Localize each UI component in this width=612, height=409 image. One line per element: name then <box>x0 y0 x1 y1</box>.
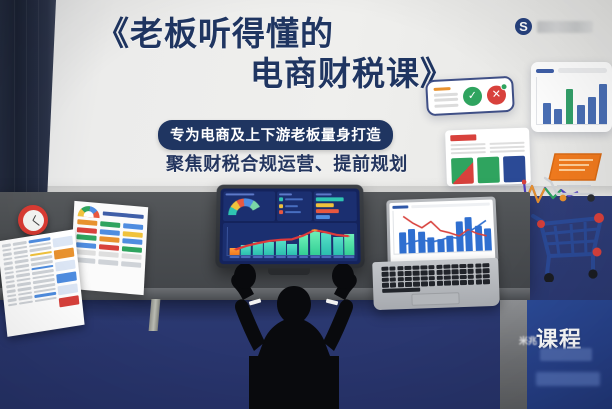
spacebar-key[interactable] <box>382 287 420 292</box>
key[interactable] <box>429 281 436 285</box>
close-glyph: ✕ <box>492 89 502 100</box>
key[interactable] <box>436 276 443 280</box>
headline-line-2: 电商财税课》 <box>96 54 456 94</box>
gauge-chart-icon <box>78 205 101 218</box>
key[interactable] <box>405 277 412 281</box>
report-color-grid <box>75 219 143 267</box>
key[interactable] <box>460 280 467 284</box>
key[interactable] <box>413 266 420 270</box>
key[interactable] <box>428 265 435 269</box>
invoice-validation-card[interactable]: ✓ ✕ <box>425 76 515 117</box>
laptop-chart-plot <box>392 207 491 254</box>
key[interactable] <box>421 282 428 286</box>
key[interactable] <box>397 266 404 270</box>
key[interactable] <box>437 281 444 285</box>
tile-green-red <box>451 158 474 185</box>
printed-report-1 <box>0 229 85 337</box>
card-text-lines <box>434 87 459 108</box>
notification-dot-icon <box>500 83 507 90</box>
table-cell <box>7 294 16 298</box>
table-cell <box>5 275 14 279</box>
key[interactable] <box>452 281 459 285</box>
key[interactable] <box>452 275 459 279</box>
x-tick <box>299 256 309 258</box>
key[interactable] <box>475 274 482 278</box>
key[interactable] <box>421 271 428 275</box>
widget-kpi <box>277 191 312 221</box>
right-partition <box>500 300 530 409</box>
key[interactable] <box>483 279 490 283</box>
key[interactable] <box>468 275 475 279</box>
x-tick <box>230 256 240 258</box>
key[interactable] <box>475 263 482 267</box>
x-tick <box>287 256 297 258</box>
subtitle: 聚焦财税合规运营、提前规划 <box>166 150 408 176</box>
printed-report-2 <box>70 201 148 295</box>
key[interactable] <box>436 265 443 269</box>
key[interactable] <box>452 264 459 268</box>
key[interactable] <box>444 264 451 268</box>
key[interactable] <box>420 265 427 269</box>
key[interactable] <box>405 282 412 286</box>
table-cell <box>3 257 12 261</box>
tablet-screen <box>219 189 360 265</box>
bottom-right-redacted-2 <box>536 372 600 386</box>
bar-chart-card[interactable] <box>531 62 612 132</box>
key[interactable] <box>398 282 405 286</box>
laptop-screen <box>389 200 495 263</box>
cart-illustrations <box>519 148 611 283</box>
key[interactable] <box>460 269 467 273</box>
key[interactable] <box>444 275 451 279</box>
clock-icon <box>18 205 48 235</box>
card-header <box>536 68 607 73</box>
trend-line <box>230 228 355 255</box>
key[interactable] <box>389 266 396 270</box>
key[interactable] <box>382 283 389 287</box>
key[interactable] <box>467 264 474 268</box>
businessman-silhouette <box>221 264 367 409</box>
key[interactable] <box>390 283 397 287</box>
shopping-cart-orange-icon <box>535 148 609 204</box>
keyboard[interactable] <box>381 263 490 293</box>
key[interactable] <box>436 270 443 274</box>
brand-name-redacted <box>537 21 593 33</box>
analytics-dashboard <box>219 189 360 265</box>
table-cell <box>4 262 13 266</box>
key[interactable] <box>428 270 435 274</box>
status-badge: 专为电商及上下游老板量身打造 <box>158 120 393 150</box>
key[interactable] <box>483 274 490 278</box>
key[interactable] <box>444 270 451 274</box>
dashboard-main-chart <box>222 223 357 261</box>
bar <box>599 84 607 124</box>
table-cell <box>6 280 15 284</box>
doc-text-rows <box>451 142 525 155</box>
tile-green <box>477 157 500 184</box>
tablet-device[interactable] <box>215 185 365 269</box>
widget-chips <box>314 191 357 221</box>
doc-chart-tiles <box>451 156 526 185</box>
brand-mark-icon: S <box>515 18 532 35</box>
key[interactable] <box>468 280 475 284</box>
key[interactable] <box>397 272 404 276</box>
doc-header-bar <box>450 134 476 141</box>
key[interactable] <box>381 267 388 271</box>
table-cell <box>2 248 11 252</box>
table-cell <box>8 303 17 307</box>
page-title: 《老板听得懂的 电商财税课》 <box>96 14 456 94</box>
key[interactable] <box>397 277 404 281</box>
stage-curtain <box>0 0 56 200</box>
key[interactable] <box>413 271 420 275</box>
key[interactable] <box>413 276 420 280</box>
bottom-right-redacted-1 <box>540 348 592 361</box>
clock-face <box>23 210 44 231</box>
x-tick <box>253 256 263 258</box>
table-cell <box>7 289 16 293</box>
bottom-right-prefix: 米兆 <box>519 334 537 347</box>
key[interactable] <box>460 275 467 279</box>
x-tick <box>333 256 343 258</box>
key[interactable] <box>475 269 482 273</box>
x-tick <box>322 256 332 258</box>
table-cell <box>2 243 11 247</box>
shopping-cart-blue-icon <box>527 208 611 282</box>
laptop-device[interactable] <box>373 198 499 316</box>
key[interactable] <box>413 282 420 286</box>
key[interactable] <box>429 276 436 280</box>
key[interactable] <box>476 280 483 284</box>
laptop-base <box>372 258 500 310</box>
table-cell <box>3 252 12 256</box>
x-tick <box>276 256 286 258</box>
key[interactable] <box>390 277 397 281</box>
key[interactable] <box>459 264 466 268</box>
x-tick <box>241 256 251 258</box>
x-tick <box>345 256 355 258</box>
laptop-lid <box>386 196 498 266</box>
donut-chart-icon <box>228 198 262 215</box>
table-cell <box>8 298 17 302</box>
dashboard-widget-row <box>223 191 357 221</box>
key[interactable] <box>483 269 490 273</box>
silhouette-shape <box>221 264 367 409</box>
bar <box>577 105 585 124</box>
key[interactable] <box>382 272 389 276</box>
key[interactable] <box>483 263 490 267</box>
chart-plot-area <box>536 77 607 125</box>
table-cell <box>19 300 33 305</box>
brand-logo[interactable]: S <box>515 18 593 35</box>
banner-canvas: 《老板听得懂的 电商财税课》 专为电商及上下游老板量身打造 聚焦财税合规运营、提… <box>0 0 612 409</box>
y-axis <box>227 227 228 255</box>
table-cell <box>4 266 13 270</box>
headline-line-1: 《老板听得懂的 <box>96 14 456 54</box>
bar <box>588 97 596 124</box>
key[interactable] <box>405 271 412 275</box>
key[interactable] <box>405 266 412 270</box>
check-icon: ✓ <box>463 86 483 106</box>
key[interactable] <box>382 278 389 282</box>
widget-donut <box>223 191 275 221</box>
bar <box>566 89 574 124</box>
table-cell <box>5 271 14 275</box>
key[interactable] <box>467 269 474 273</box>
key[interactable] <box>452 270 459 274</box>
bar <box>543 103 551 124</box>
card-header-pill <box>558 68 607 73</box>
laptop-trend-lines <box>398 207 491 253</box>
x-tick-labels <box>229 256 354 261</box>
key[interactable] <box>421 276 428 280</box>
close-icon: ✕ <box>486 85 506 105</box>
key[interactable] <box>389 272 396 276</box>
trackpad[interactable] <box>411 292 459 306</box>
table-cell <box>6 284 15 288</box>
card-title-bar <box>536 69 554 73</box>
key[interactable] <box>444 281 451 285</box>
bar <box>554 109 562 125</box>
x-tick <box>264 256 274 258</box>
x-tick <box>310 256 320 258</box>
